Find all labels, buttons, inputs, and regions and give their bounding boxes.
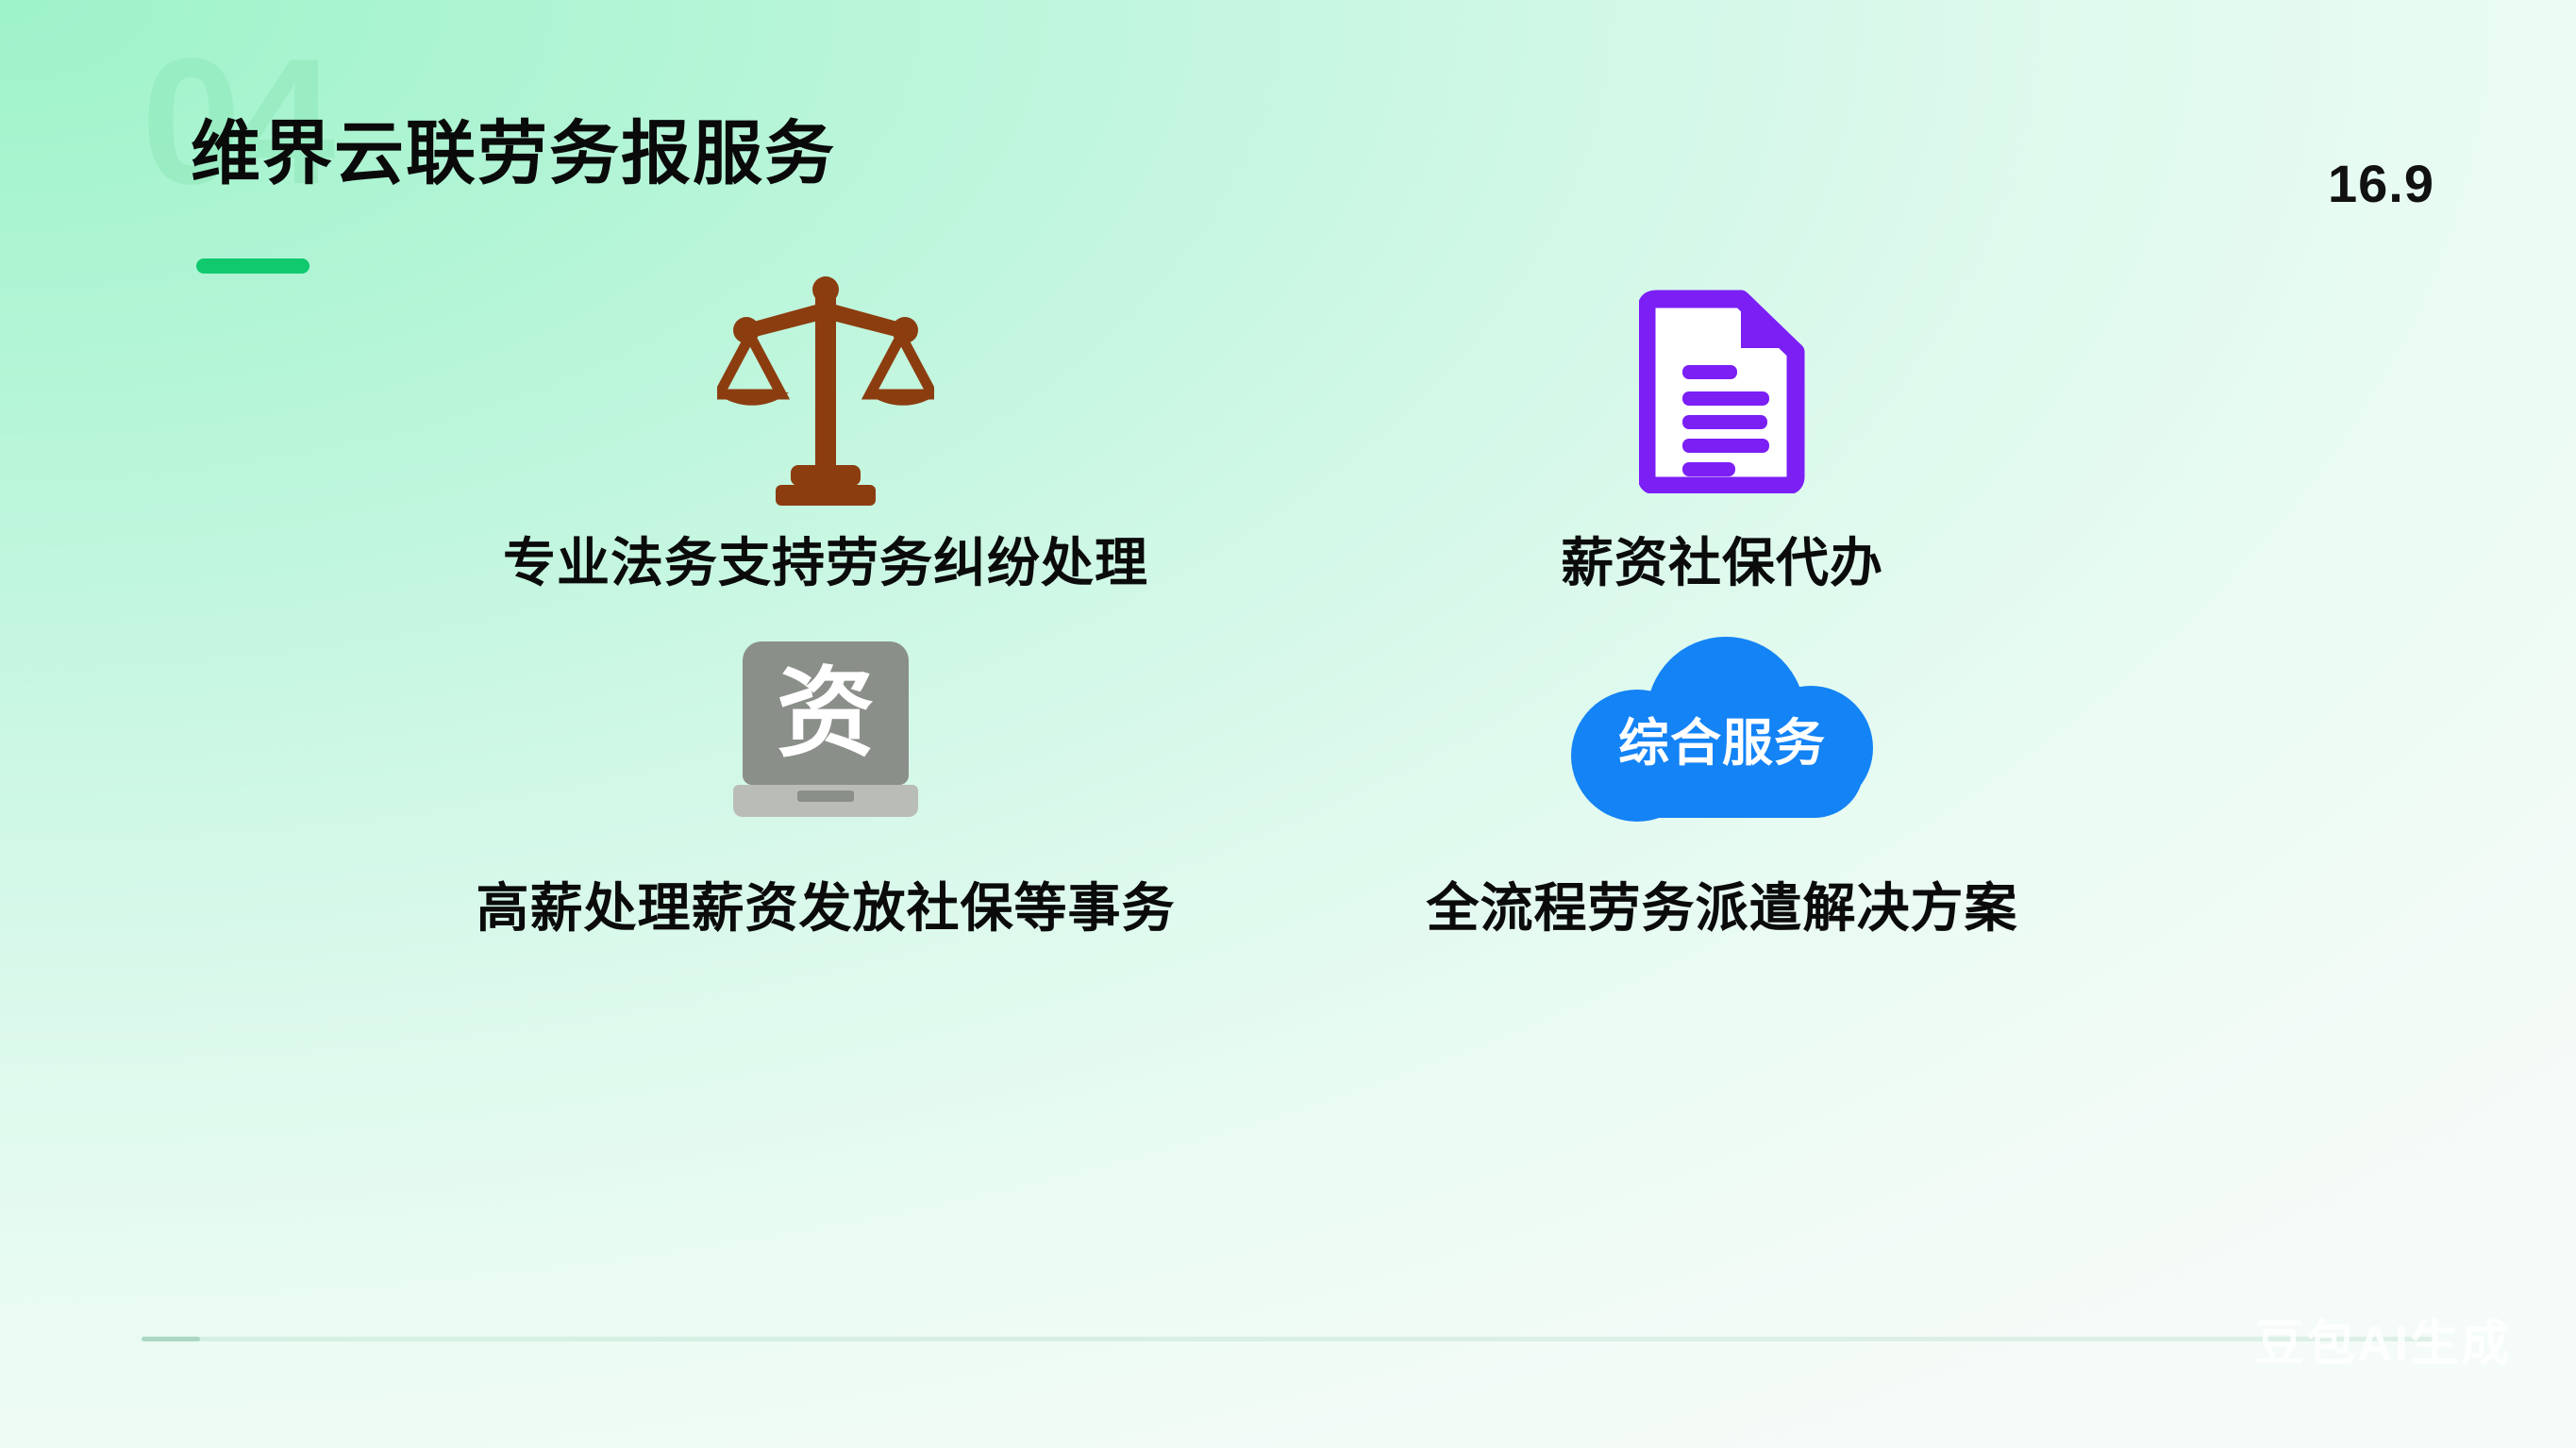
slide-header: 04 维界云联劳务报服务 16.9 [142, 49, 2434, 238]
feature-item-dispatch[interactable]: 综合服务 全流程劳务派遣解决方案 [1302, 632, 2142, 981]
feature-grid: 专业法务支持劳务纠纷处理 薪资社保代办 资 [406, 274, 2142, 981]
slide-progress-fill [142, 1337, 200, 1341]
feature-item-payroll[interactable]: 薪资社保代办 [1302, 274, 2142, 623]
feature-item-legal[interactable]: 专业法务支持劳务纠纷处理 [406, 274, 1246, 623]
balance-scale-icon [717, 274, 934, 509]
document-icon [1639, 274, 1805, 509]
laptop-screen-glyph: 资 [777, 664, 875, 762]
page-number: 16.9 [2328, 153, 2434, 214]
feature-label: 高薪处理薪资发放社保等事务 [477, 879, 1176, 938]
feature-label: 专业法务支持劳务纠纷处理 [503, 534, 1148, 592]
slide-progress-bar[interactable] [142, 1337, 2434, 1341]
cloud-label: 综合服务 [1571, 718, 1873, 769]
page-title: 维界云联劳务报服务 [191, 119, 836, 189]
laptop-notch [797, 791, 854, 802]
feature-label: 全流程劳务派遣解决方案 [1427, 879, 2018, 938]
laptop-zi-icon: 资 [733, 632, 918, 830]
cloud-icon: 综合服务 [1571, 632, 1873, 830]
feature-item-salary[interactable]: 资 高薪处理薪资发放社保等事务 [406, 632, 1246, 981]
title-accent-underline [196, 258, 309, 274]
feature-label: 薪资社保代办 [1561, 534, 1883, 592]
laptop-screen: 资 [743, 641, 909, 785]
brand-watermark: 豆包AI生成 [2255, 1304, 2512, 1374]
